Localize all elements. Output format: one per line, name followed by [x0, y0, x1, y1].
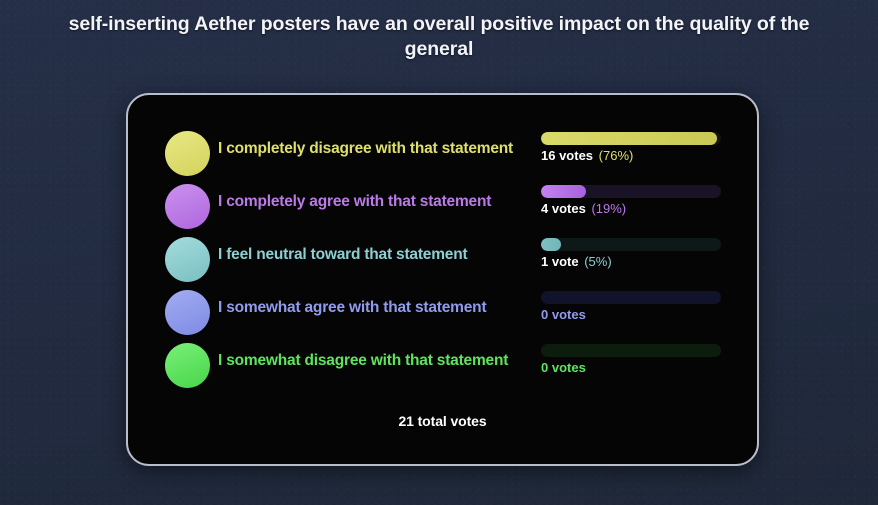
- vote-count-line: 4 votes (19%): [541, 201, 721, 217]
- vote-bar-track: [541, 132, 721, 145]
- poll-options-list: I completely disagree with that statemen…: [128, 95, 757, 392]
- total-votes-label: 21 total votes: [128, 413, 757, 429]
- vote-count-line: 16 votes (76%): [541, 148, 721, 164]
- option-color-dot-icon: [165, 237, 210, 282]
- option-result-block: 0 votes: [541, 291, 721, 323]
- vote-percent: (19%): [591, 201, 626, 216]
- vote-bar-fill: [541, 238, 561, 251]
- option-label: I feel neutral toward that statement: [218, 246, 467, 264]
- vote-bar-track: [541, 344, 721, 357]
- vote-bar-track: [541, 238, 721, 251]
- vote-count: 0 votes: [541, 307, 586, 322]
- poll-option-row[interactable]: I feel neutral toward that statement1 vo…: [128, 233, 757, 286]
- option-color-dot-icon: [165, 184, 210, 229]
- option-color-dot-icon: [165, 131, 210, 176]
- option-label: I completely agree with that statement: [218, 193, 491, 211]
- vote-count: 4 votes: [541, 201, 586, 216]
- poll-option-row[interactable]: I somewhat disagree with that statement0…: [128, 339, 757, 392]
- vote-bar-fill: [541, 185, 586, 198]
- option-result-block: 0 votes: [541, 344, 721, 376]
- vote-percent: (5%): [584, 254, 611, 269]
- option-result-block: 1 vote (5%): [541, 238, 721, 270]
- option-label: I somewhat disagree with that statement: [218, 352, 508, 370]
- poll-option-row[interactable]: I somewhat agree with that statement0 vo…: [128, 286, 757, 339]
- option-result-block: 4 votes (19%): [541, 185, 721, 217]
- vote-count: 0 votes: [541, 360, 586, 375]
- vote-count: 16 votes: [541, 148, 593, 163]
- option-result-block: 16 votes (76%): [541, 132, 721, 164]
- vote-count: 1 vote: [541, 254, 579, 269]
- option-label: I completely disagree with that statemen…: [218, 140, 513, 158]
- vote-bar-track: [541, 185, 721, 198]
- poll-option-row[interactable]: I completely agree with that statement4 …: [128, 180, 757, 233]
- vote-bar-track: [541, 291, 721, 304]
- poll-option-row[interactable]: I completely disagree with that statemen…: [128, 127, 757, 180]
- option-color-dot-icon: [165, 290, 210, 335]
- vote-count-line: 0 votes: [541, 360, 721, 376]
- vote-bar-fill: [541, 132, 717, 145]
- vote-count-line: 1 vote (5%): [541, 254, 721, 270]
- vote-percent: (76%): [599, 148, 634, 163]
- poll-card: I completely disagree with that statemen…: [126, 93, 759, 466]
- vote-count-line: 0 votes: [541, 307, 721, 323]
- page-title: self-inserting Aether posters have an ov…: [59, 0, 819, 62]
- option-color-dot-icon: [165, 343, 210, 388]
- option-label: I somewhat agree with that statement: [218, 299, 486, 317]
